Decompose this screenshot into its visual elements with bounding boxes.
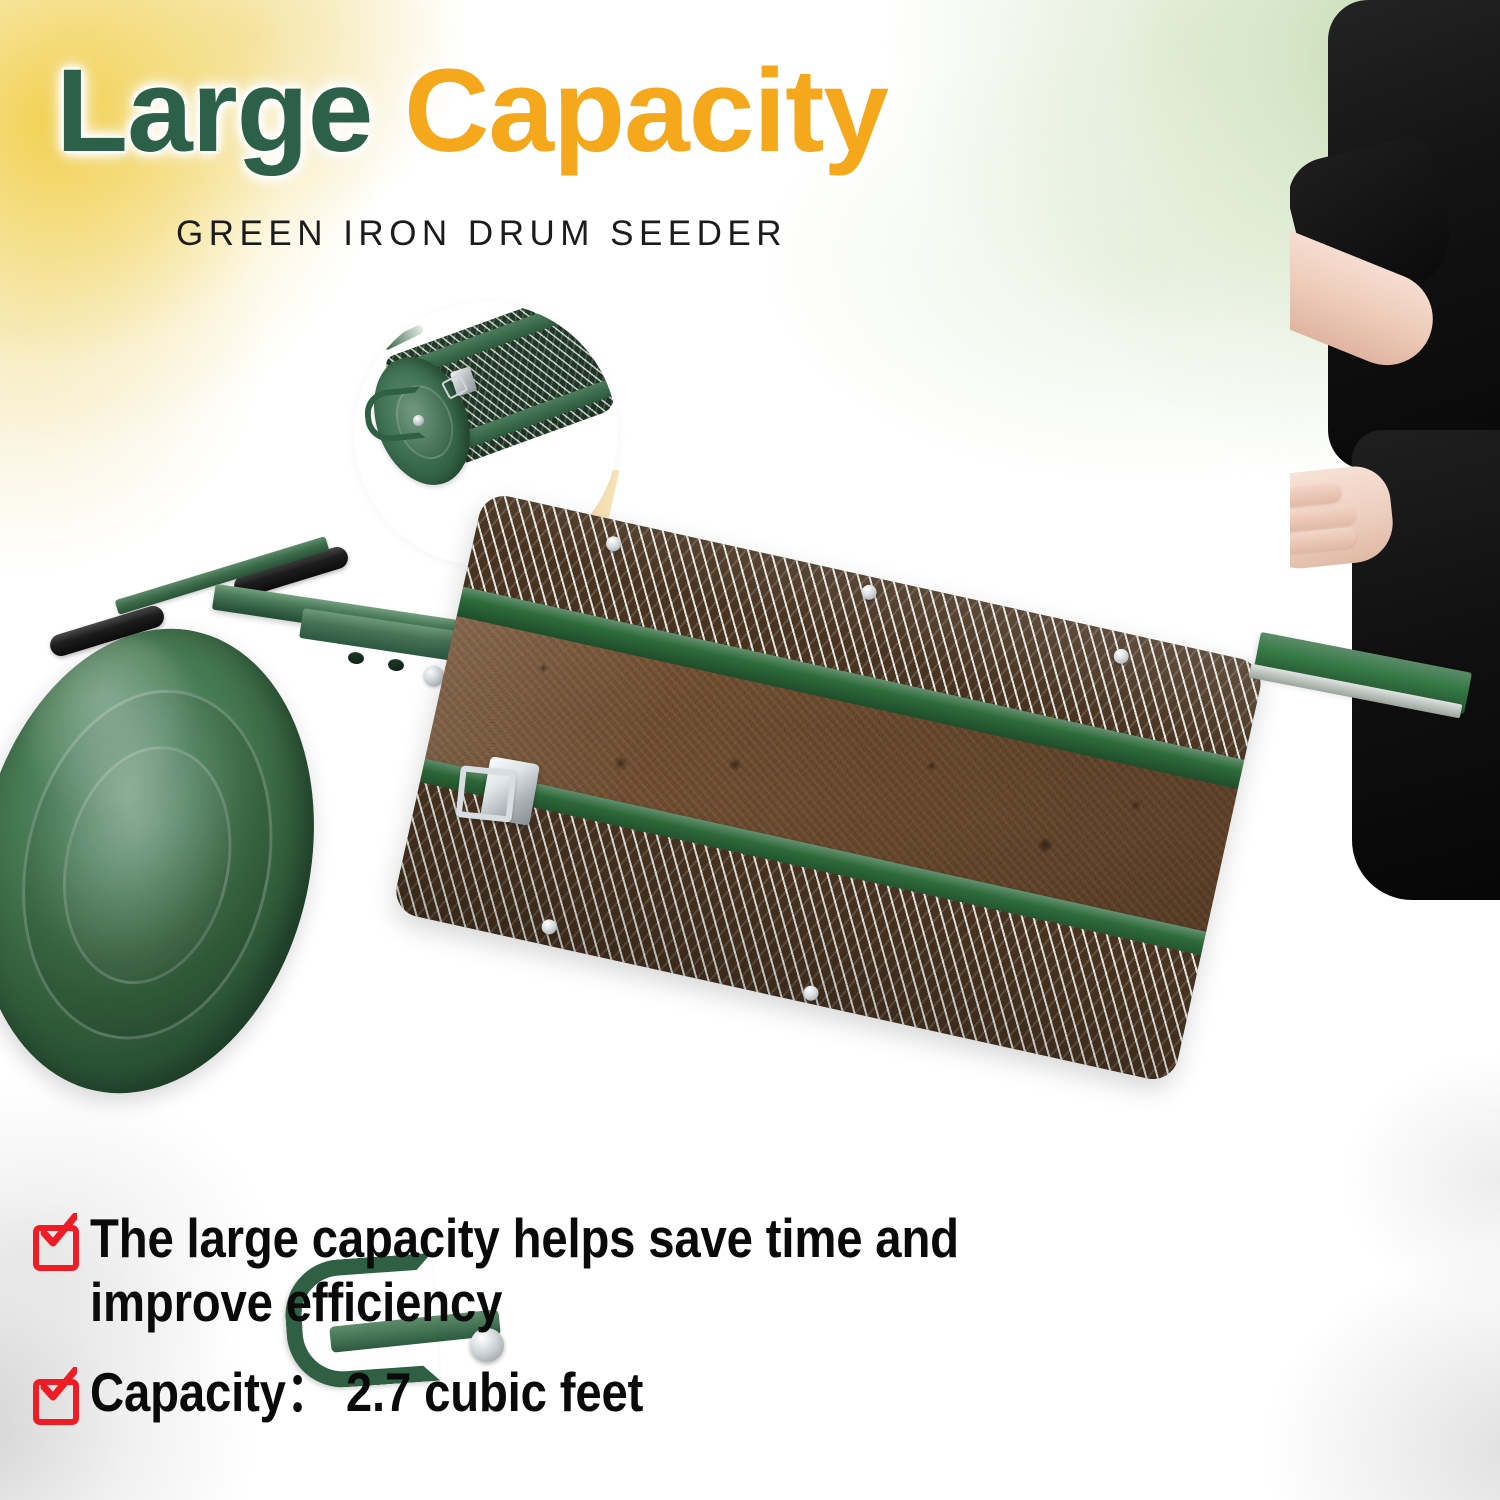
finger [1290, 527, 1357, 556]
page-title-part-2: Capacity [404, 45, 888, 177]
red-checkbox-icon [30, 1217, 76, 1263]
drum-barrel [309, 457, 1338, 1205]
person-holding-product [1290, 0, 1500, 900]
adjustment-hole [347, 651, 365, 665]
page-subtitle: GREEN IRON DRUM SEEDER [176, 214, 787, 254]
page-title: Large Capacity [56, 52, 888, 170]
feature-text: Capacity： 2.7 cubic feet [90, 1361, 643, 1425]
list-item: The large capacity helps save time and i… [30, 1207, 1360, 1335]
page-title-part-1: Large [56, 45, 372, 177]
drum-latch-icon [480, 756, 540, 826]
feature-text: The large capacity helps save time and i… [90, 1207, 959, 1335]
list-item: Capacity： 2.7 cubic feet [30, 1361, 1360, 1425]
product-marketing-image: Large Capacity GREEN IRON DRUM SEEDER [0, 0, 1500, 1500]
red-checkbox-icon [30, 1371, 76, 1417]
product-photo [0, 420, 1500, 1210]
drum-end-cap [0, 596, 357, 1126]
feature-list: The large capacity helps save time and i… [30, 1207, 1360, 1450]
